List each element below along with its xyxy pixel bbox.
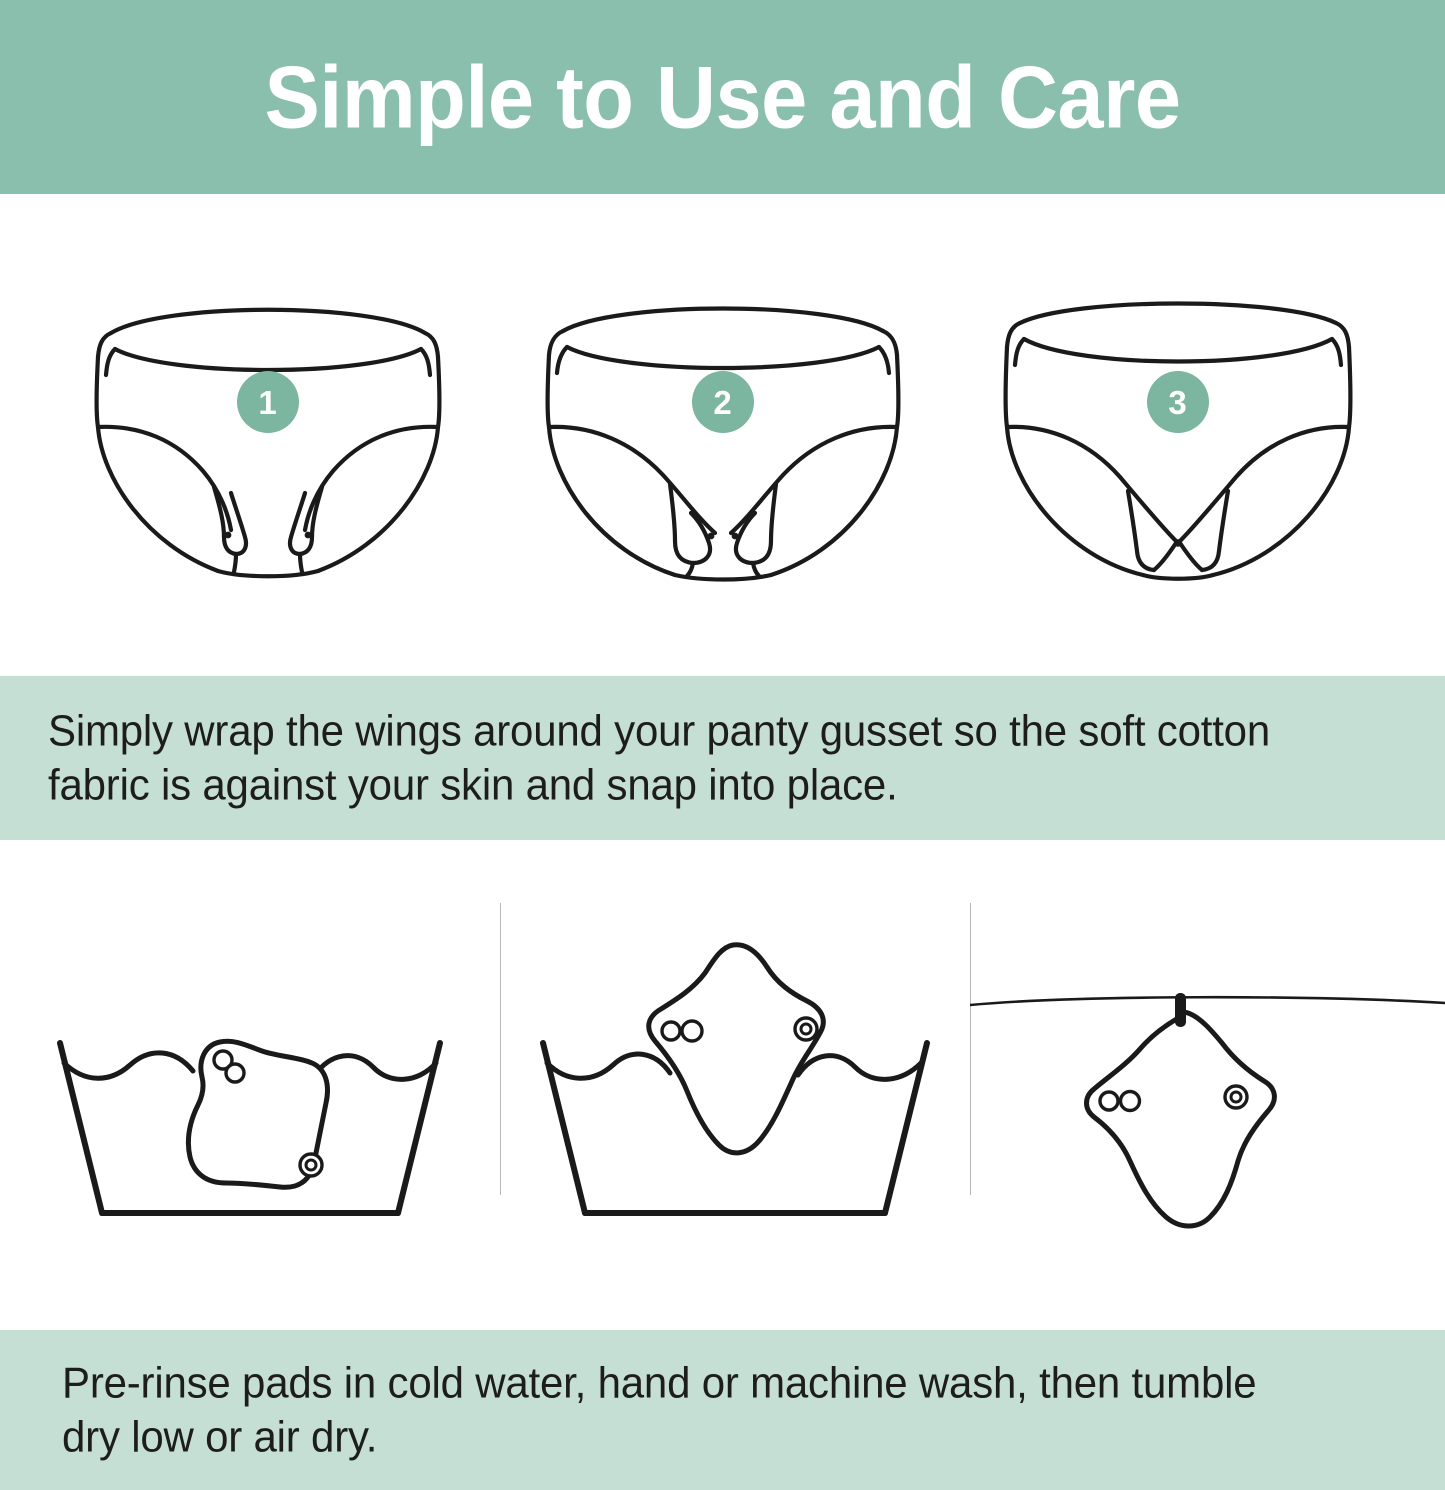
snap-dot-left — [224, 532, 231, 539]
page-title: Simple to Use and Care — [264, 53, 1180, 141]
snap-hole-2 — [1121, 1092, 1140, 1111]
clothesline — [970, 997, 1445, 1005]
care-instruction-line-1: Pre-rinse pads in cold water, hand or ma… — [62, 1355, 1397, 1411]
care-step-3 — [970, 885, 1445, 1285]
snap-hole-1 — [662, 1022, 680, 1040]
spacer-below-use-band — [0, 840, 1445, 885]
pad-hanging-on-clothesline-icon — [970, 925, 1445, 1245]
step-number-badge: 2 — [692, 371, 754, 433]
snap-hole-2 — [682, 1021, 702, 1041]
care-step-2 — [500, 885, 970, 1285]
snap-stud-inner — [1231, 1092, 1241, 1102]
snap-dot-center — [1174, 539, 1182, 547]
snap-stud-inner — [801, 1024, 811, 1034]
care-instruction-band: Pre-rinse pads in cold water, hand or ma… — [0, 1330, 1445, 1490]
snap-stud-inner — [306, 1160, 316, 1170]
use-steps-row: 1 — [0, 194, 1445, 676]
care-instruction-line-2: dry low or air dry. — [62, 1409, 1397, 1465]
spacer-below-care-icons — [0, 1285, 1445, 1330]
header-banner: Simple to Use and Care — [0, 0, 1445, 194]
step-number-badge: 1 — [237, 371, 299, 433]
snap-hole-1 — [1100, 1092, 1118, 1110]
panty-wings-folding-icon — [523, 275, 923, 595]
step-number-badge: 3 — [1147, 371, 1209, 433]
panty-wings-open-icon — [68, 275, 468, 595]
pad-soaking-in-basin-icon — [30, 925, 470, 1245]
snap-dot-right — [304, 532, 311, 539]
snap-hole-2 — [226, 1064, 244, 1082]
snap-dot-right — [731, 533, 738, 540]
use-step-2: 2 — [523, 275, 923, 595]
care-step-1 — [0, 885, 500, 1285]
snap-dot-left — [707, 533, 714, 540]
care-icons-row — [0, 885, 1445, 1285]
use-instruction-line-1: Simply wrap the wings around your panty … — [48, 703, 1397, 759]
use-step-1: 1 — [68, 275, 468, 595]
clothespin-icon — [1175, 993, 1186, 1027]
use-instruction-band: Simply wrap the wings around your panty … — [0, 676, 1445, 840]
use-step-3: 3 — [978, 275, 1378, 595]
panty-wings-snapped-icon — [978, 275, 1378, 595]
use-instruction-line-2: fabric is against your skin and snap int… — [48, 757, 1397, 813]
pad-lifted-from-basin-icon — [515, 925, 955, 1245]
